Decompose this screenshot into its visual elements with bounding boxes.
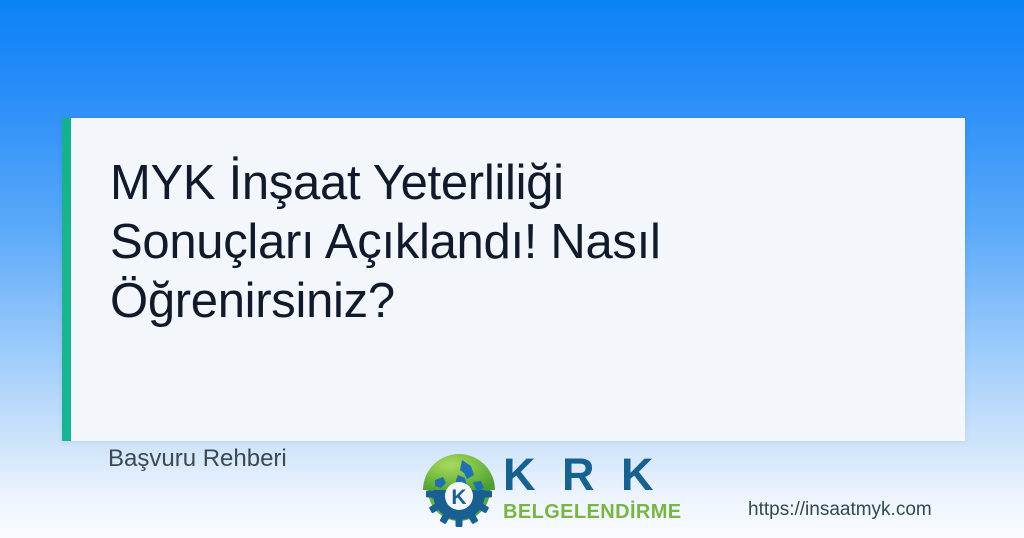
page-title: MYK İnşaat Yeterliliği Sonuçları Açıklan… <box>110 154 910 331</box>
logo-wordmark: K R K BELGELENDİRME <box>503 450 663 523</box>
website-url[interactable]: https://insaatmyk.com <box>748 498 932 522</box>
subtitle-text: Başvuru Rehberi <box>108 444 287 474</box>
content-card: MYK İnşaat Yeterliliği Sonuçları Açıklan… <box>62 118 965 441</box>
logo-tagline-text: BELGELENDİRME <box>503 501 663 523</box>
globe-gear-logo-icon: K <box>415 446 503 534</box>
logo-brand-text: K R K <box>503 450 663 500</box>
krk-logo: K K R K BELGELENDİRME <box>415 446 660 536</box>
logo-mark-letter: K <box>451 486 466 509</box>
slide-canvas: MYK İnşaat Yeterliliği Sonuçları Açıklan… <box>0 0 1024 538</box>
card-accent-bar <box>62 118 71 441</box>
